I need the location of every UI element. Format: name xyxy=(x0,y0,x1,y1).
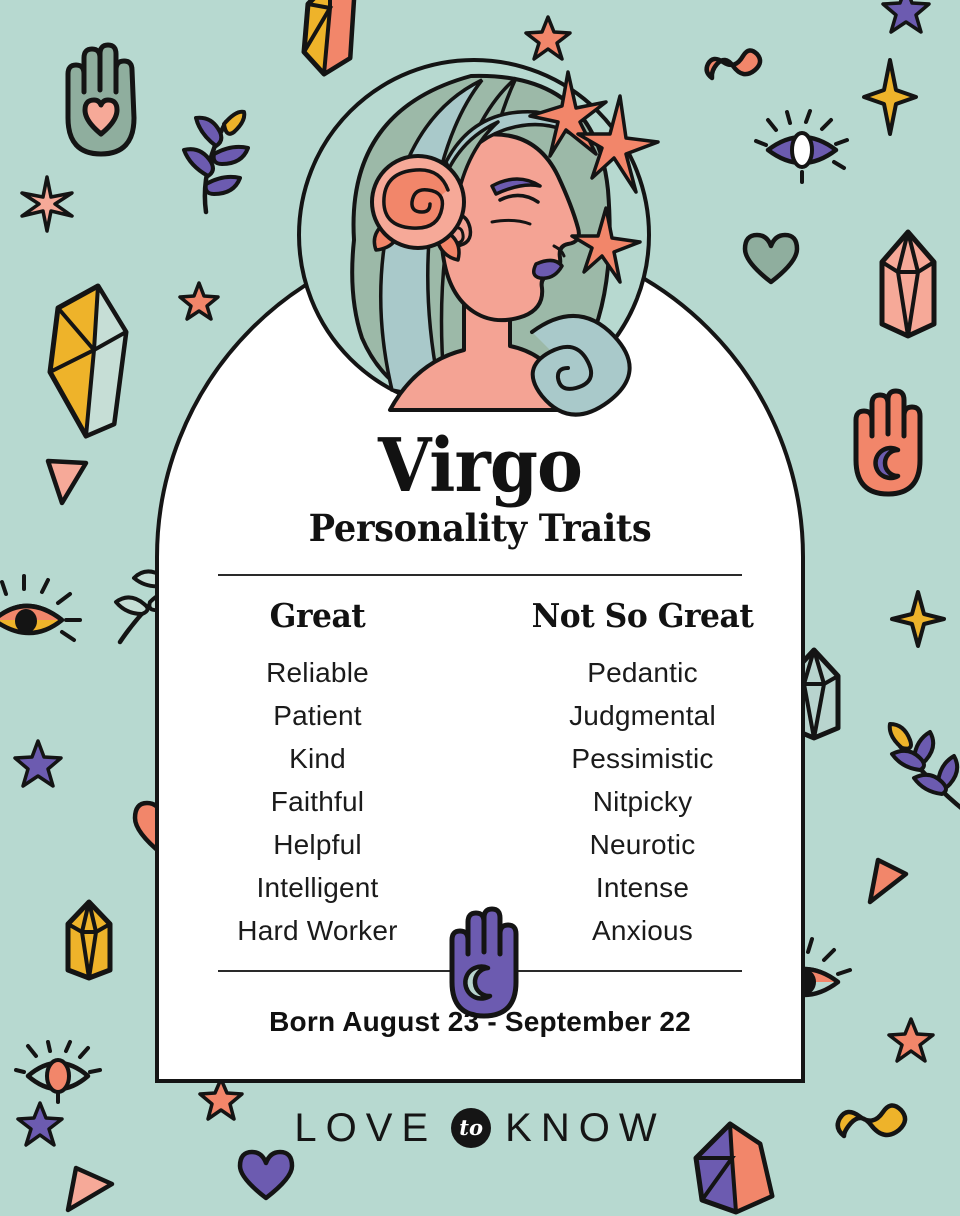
brand-logo[interactable]: LOVE to KNOW xyxy=(0,1108,960,1148)
divider-top xyxy=(218,574,742,576)
triangle-icon xyxy=(856,852,912,906)
leaf-sprig-icon xyxy=(880,722,960,832)
list-item: Nitpicky xyxy=(480,780,805,823)
list-item: Patient xyxy=(155,694,480,737)
eye-icon xyxy=(20,1042,100,1104)
crystal-icon xyxy=(872,228,944,340)
five-point-star-icon xyxy=(12,738,64,790)
list-item: Judgmental xyxy=(480,694,805,737)
leaf-sprig-icon xyxy=(148,108,248,218)
poster-root: Virgo Personality Traits Great Reliable … xyxy=(0,0,960,1200)
infinity-icon xyxy=(700,30,710,40)
list-item: Reliable xyxy=(155,651,480,694)
eye-icon xyxy=(756,108,848,184)
list-item: Hard Worker xyxy=(155,909,480,952)
list-item: Kind xyxy=(155,737,480,780)
born-date-text: Born August 23 - September 22 xyxy=(155,1006,805,1038)
list-item: Neurotic xyxy=(480,823,805,866)
four-point-star-icon xyxy=(862,58,918,136)
page-title: Virgo xyxy=(178,430,783,503)
list-item: Faithful xyxy=(155,780,480,823)
five-point-star-icon xyxy=(886,1016,936,1066)
triangle-icon xyxy=(58,1160,118,1216)
column-heading-not-so-great: Not So Great xyxy=(488,596,797,635)
crystal-icon xyxy=(60,898,118,982)
traits-column-great: Great Reliable Patient Kind Faithful Hel… xyxy=(155,596,480,952)
eye-icon xyxy=(0,572,90,652)
heart-icon xyxy=(742,232,800,286)
traits-list-great: Reliable Patient Kind Faithful Helpful I… xyxy=(155,651,480,952)
virgo-portrait-illustration xyxy=(296,50,666,430)
list-item: Pessimistic xyxy=(480,737,805,780)
page-subtitle: Personality Traits xyxy=(171,509,789,548)
logo-word-love: LOVE xyxy=(294,1108,437,1148)
infinity-icon xyxy=(700,38,760,90)
logo-badge-text: to xyxy=(459,1117,483,1138)
list-item: Pedantic xyxy=(480,651,805,694)
infinity-icon xyxy=(696,34,700,38)
logo-to-badge: to xyxy=(451,1108,491,1148)
six-point-star-icon xyxy=(20,175,74,233)
eye-icon xyxy=(6,1040,10,1044)
crystal-icon xyxy=(40,278,160,450)
five-point-star-icon xyxy=(880,0,932,36)
logo-word-know: KNOW xyxy=(505,1108,665,1148)
column-heading-great: Great xyxy=(163,596,472,635)
hand-with-heart-icon xyxy=(46,30,156,180)
list-item: Intelligent xyxy=(155,866,480,909)
title-block: Virgo Personality Traits xyxy=(155,430,805,547)
leaf-sprig-icon xyxy=(846,682,850,686)
five-point-star-icon xyxy=(178,280,220,322)
hand-with-moon-icon xyxy=(836,378,940,518)
four-point-star-icon xyxy=(890,590,946,648)
triangle-icon xyxy=(42,455,92,509)
list-item: Helpful xyxy=(155,823,480,866)
heart-icon xyxy=(238,1150,294,1202)
